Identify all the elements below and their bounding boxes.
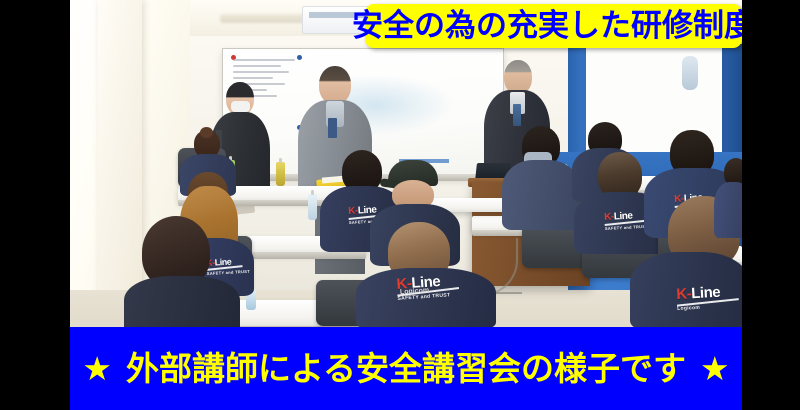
left-black-bar (0, 0, 70, 410)
uniform-logo: K-Line SAFETY and TRUST (206, 256, 250, 276)
hair-bun (200, 127, 213, 138)
uniform-logo-large: K-Line Logicom (676, 283, 739, 312)
torso-uniform (502, 160, 580, 230)
top-caption-banner: 安全の為の充実した研修制度 (365, 4, 742, 48)
screenshot-root: K-Line SAFETY and TRUST K-Line SAFETY an… (0, 0, 800, 410)
bottom-caption-banner: ★ 外部講師による安全講習会の様子です ★ (70, 327, 742, 410)
left-wall-column (98, 0, 142, 318)
necktie (513, 104, 521, 126)
necktie (328, 118, 337, 138)
head (319, 66, 351, 104)
bottom-caption-text: 外部講師による安全講習会の様子です (126, 352, 686, 385)
star-right-icon: ★ (700, 352, 730, 385)
face-mask (231, 101, 250, 112)
head (504, 60, 532, 94)
torso-uniform (714, 182, 742, 238)
top-caption-text: 安全の為の充実した研修制度 (352, 11, 755, 42)
air-conditioner-unit (682, 56, 698, 90)
water-bottle (308, 194, 317, 220)
star-left-icon: ★ (82, 352, 112, 385)
uniform-logo: K-Line SAFETY and TRUST (604, 210, 648, 231)
right-black-bar (742, 0, 800, 410)
tea-bottle-2 (276, 162, 285, 186)
